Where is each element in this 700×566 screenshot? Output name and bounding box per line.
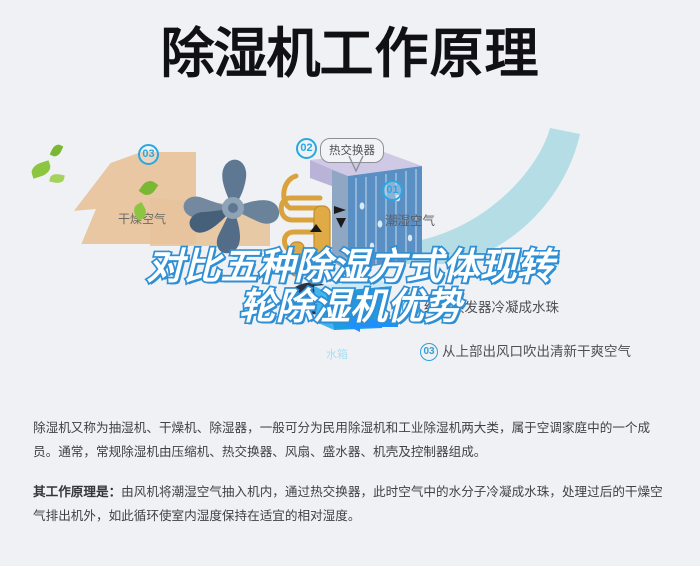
body-paragraph-2: 其工作原理是：由风机将潮湿空气抽入机内，通过热交换器，此时空气中的水分子冷凝成水…: [33, 480, 669, 528]
body-paragraph-1: 除湿机又称为抽湿机、干燥机、除湿器，一般可分为民用除湿机和工业除湿机两大类，属于…: [33, 416, 669, 464]
dehumidifier-diagram: 干燥空气: [0, 118, 700, 398]
step-text-02: 经过蒸发器冷凝成水珠: [424, 300, 559, 316]
page-title: 除湿机工作原理: [0, 22, 700, 86]
humid-air-label: 潮湿空气: [385, 210, 435, 229]
step-badge-02: 02: [402, 299, 420, 317]
step-text-03: 从上部出风口吹出清新干爽空气: [442, 344, 631, 360]
article-body: 除湿机又称为抽湿机、干燥机、除湿器，一般可分为民用除湿机和工业除湿机两大类，属于…: [33, 416, 669, 528]
leaf-icon: [50, 143, 64, 159]
body-paragraph-2-lead: 其工作原理是：: [33, 484, 121, 499]
step-badge-03: 03: [420, 343, 438, 361]
article-page: 除湿机工作原理 干燥空气: [0, 0, 700, 566]
leaf-icon: [29, 160, 52, 179]
step-line-03: 03从上部出风口吹出清新干爽空气: [420, 340, 631, 361]
page-title-part1: 除湿机: [161, 22, 320, 85]
callout-badge-01: 01: [382, 180, 403, 201]
air-inflow-arrow-icon: [340, 314, 398, 332]
water-tank-label: 水箱: [326, 346, 348, 362]
step-line-02: 02经过蒸发器冷凝成水珠: [402, 296, 559, 317]
body-paragraph-2-rest: 由风机将潮湿空气抽入机内，通过热交换器，此时空气中的水分子冷凝成水珠，处理过后的…: [33, 484, 663, 523]
page-title-part2: 工作原理: [320, 22, 540, 85]
leaf-icon: [49, 173, 65, 185]
callout-pointer-icon: [348, 156, 364, 174]
page-title-text: 除湿机工作原理: [161, 22, 540, 86]
callout-badge-02: 02: [296, 138, 317, 159]
fan-icon: [178, 156, 288, 260]
callout-badge-03: 03: [138, 144, 159, 165]
